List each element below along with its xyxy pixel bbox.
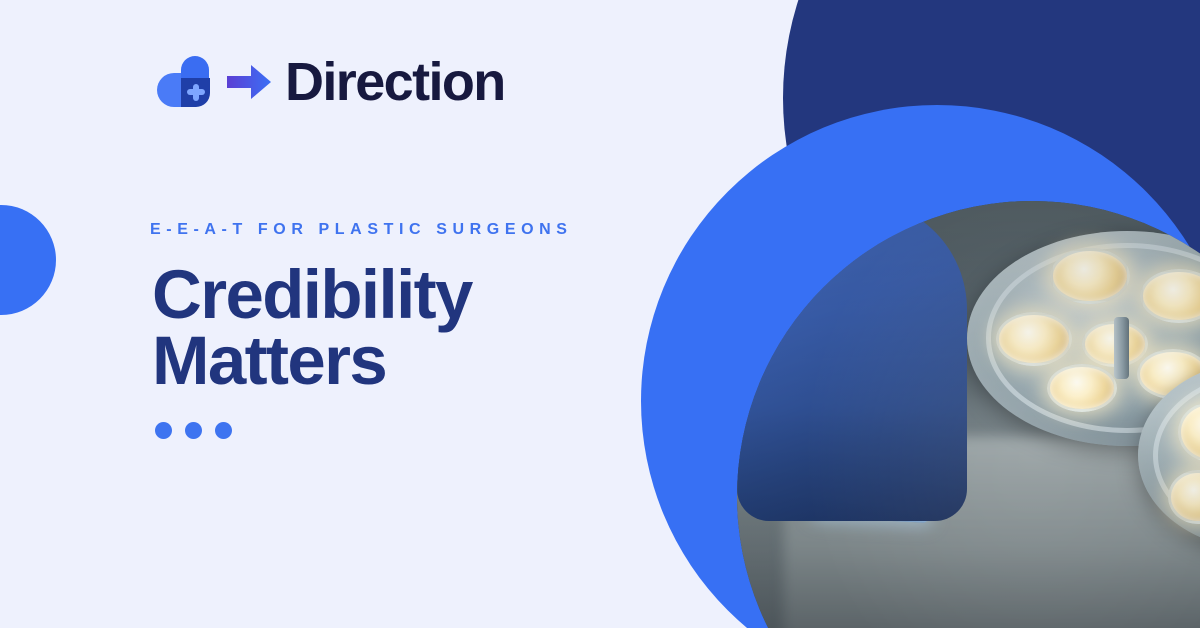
page-title: Credibility Matters [152, 262, 472, 393]
photo-shading [737, 201, 1200, 628]
heart-plus-icon [157, 56, 213, 108]
brand-wordmark: Direction [285, 55, 505, 109]
promo-banner: Direction E-E-A-T FOR PLASTIC SURGEONS C… [0, 0, 1200, 628]
eyebrow-label: E-E-A-T FOR PLASTIC SURGEONS [150, 221, 573, 239]
surgery-photo [737, 201, 1200, 628]
dot-accent-group [155, 422, 232, 439]
operating-room-scene [737, 201, 1200, 628]
accent-dot [185, 422, 202, 439]
arrow-right-icon [227, 65, 271, 99]
headline-line-2: Matters [152, 328, 472, 394]
accent-dot [155, 422, 172, 439]
brand-logo[interactable]: Direction [157, 55, 505, 109]
content-column: Direction E-E-A-T FOR PLASTIC SURGEONS C… [0, 0, 660, 628]
accent-dot [215, 422, 232, 439]
